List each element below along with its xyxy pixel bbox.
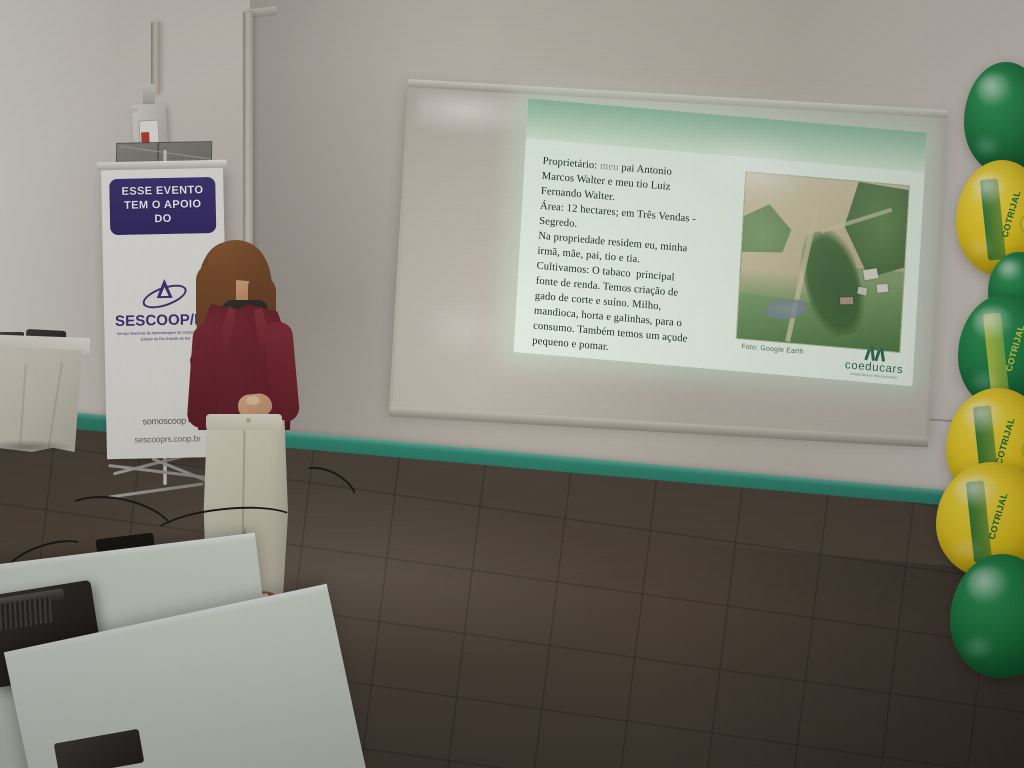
whiteboard-glare <box>416 92 538 139</box>
balloon-shine <box>998 259 1024 281</box>
balloon-shine-secondary <box>972 134 1001 159</box>
presenter-pants-button <box>246 418 251 423</box>
balloon-shine-secondary <box>960 633 995 660</box>
presenter-hand-highlight <box>246 396 260 405</box>
balloon-shine <box>963 399 1007 433</box>
cloth-fold-1 <box>19 364 27 446</box>
photo-scene: 3 1/2 Proprietário: meu pai Antonio Marc… <box>0 0 1024 768</box>
presenter-waistband <box>206 414 282 430</box>
balloon-shine <box>954 474 1001 509</box>
cloth-fold-2 <box>47 362 63 451</box>
balloon-sun-icon <box>1020 213 1024 235</box>
coeducars-mark-icon <box>865 344 886 362</box>
balloon-shine <box>971 172 1010 207</box>
side-table-shadow <box>0 440 74 454</box>
balloon-shine-secondary <box>947 536 985 562</box>
balloon-column: COTRIJAL COTRIJAL COTRIJAL COTRIJAL <box>920 56 1024 696</box>
banner-headline: ESSE EVENTO TEM O APOIO DO <box>109 177 216 235</box>
aerial-photo <box>736 171 910 353</box>
wall-bracket <box>143 84 155 106</box>
balloon-shine <box>977 73 1012 107</box>
photo-credit: Foto: Google Earth <box>735 343 804 356</box>
sescoop-triangle-inner <box>160 287 168 296</box>
whiteboard: Proprietário: meu pai Antonio Marcos Wal… <box>389 82 947 443</box>
balloon-shine-secondary <box>965 234 996 260</box>
whiteboard-glare-secondary <box>415 296 508 361</box>
side-table <box>0 336 90 454</box>
slide-text-block: Proprietário: meu pai Antonio Marcos Wal… <box>532 154 737 362</box>
aerial-projection-haze <box>737 172 909 352</box>
slide-faded-word: meu <box>600 161 619 174</box>
banner-headline-line2: TEM O APOIO DO <box>114 198 213 228</box>
banner-top-rail <box>97 160 227 171</box>
balloon-1 <box>964 62 1024 174</box>
projected-slide: Proprietário: meu pai Antonio Marcos Wal… <box>514 98 927 386</box>
balloon-shine <box>967 566 1011 603</box>
coeducars-logo: coeducars cooperativas educacionais <box>844 342 904 380</box>
side-table-cloth <box>0 346 82 452</box>
slide-canvas: Proprietário: meu pai Antonio Marcos Wal… <box>514 98 927 386</box>
balloon-shine <box>973 306 1013 341</box>
balloon-7 <box>950 554 1024 678</box>
